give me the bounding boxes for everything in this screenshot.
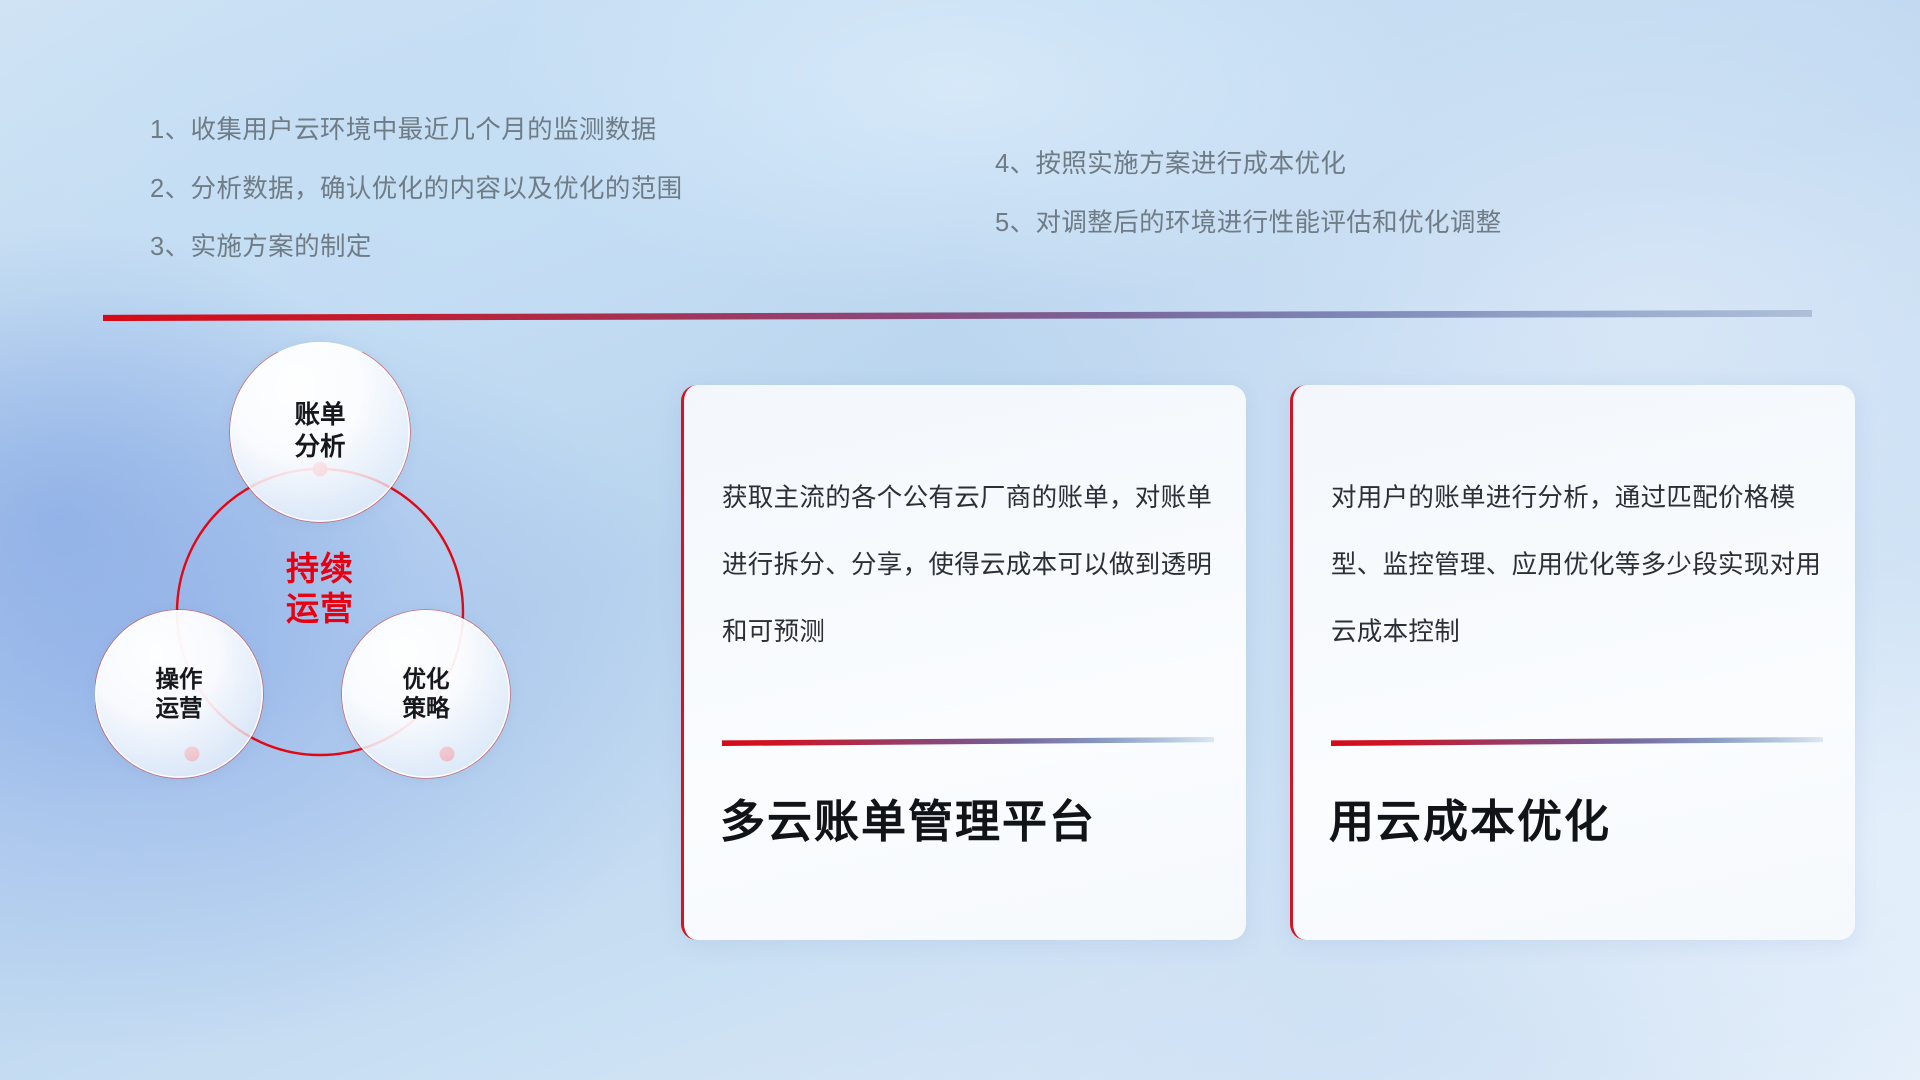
- venn-center-label: 持续 运营: [250, 534, 390, 644]
- venn-center-line1: 持续: [286, 549, 354, 589]
- bubble-label-line2: 分析: [294, 432, 345, 464]
- bubble-label-line1: 优化: [403, 665, 450, 694]
- step-item-5: 5、对调整后的环境进行性能评估和优化调整: [995, 211, 1502, 237]
- section-divider: [103, 310, 1812, 321]
- card-title: 用云成本优化: [1329, 785, 1835, 850]
- card-divider: [722, 737, 1214, 746]
- steps-column-right: 4、按照实施方案进行成本优化 5、对调整后的环境进行性能评估和优化调整: [995, 152, 1502, 269]
- venn-bubble-billing-analysis[interactable]: 账单 分析: [230, 342, 410, 522]
- step-item-4: 4、按照实施方案进行成本优化: [995, 152, 1502, 178]
- card-body-text: 获取主流的各个公有云厂商的账单，对账单进行拆分、分享，使得云成本可以做到透明和可…: [722, 465, 1218, 665]
- step-item-1: 1、收集用户云环境中最近几个月的监测数据: [150, 118, 683, 144]
- bubble-label-line1: 账单: [294, 400, 345, 432]
- feature-card-cost-optimization[interactable]: 对用户的账单进行分析，通过匹配价格模型、监控管理、应用优化等多少段实现对用云成本…: [1290, 385, 1855, 940]
- card-body-text: 对用户的账单进行分析，通过匹配价格模型、监控管理、应用优化等多少段实现对用云成本…: [1331, 465, 1827, 665]
- bubble-label-line2: 运营: [156, 694, 203, 723]
- feature-card-billing-platform[interactable]: 获取主流的各个公有云厂商的账单，对账单进行拆分、分享，使得云成本可以做到透明和可…: [681, 385, 1246, 940]
- step-item-3: 3、实施方案的制定: [150, 235, 683, 261]
- step-item-2: 2、分析数据，确认优化的内容以及优化的范围: [150, 177, 683, 203]
- steps-column-left: 1、收集用户云环境中最近几个月的监测数据 2、分析数据，确认优化的内容以及优化的…: [150, 118, 683, 294]
- venn-bubble-operations[interactable]: 操作 运营: [95, 610, 263, 778]
- section-divider-bar: [103, 310, 1812, 321]
- card-divider: [1331, 737, 1823, 746]
- venn-diagram: 账单 分析 操作 运营 优化 策略 持续 运营: [95, 352, 615, 862]
- venn-center-line2: 运营: [286, 589, 354, 629]
- bubble-label-line1: 操作: [156, 665, 203, 694]
- bubble-label-line2: 策略: [403, 694, 450, 723]
- card-title: 多云账单管理平台: [720, 785, 1226, 850]
